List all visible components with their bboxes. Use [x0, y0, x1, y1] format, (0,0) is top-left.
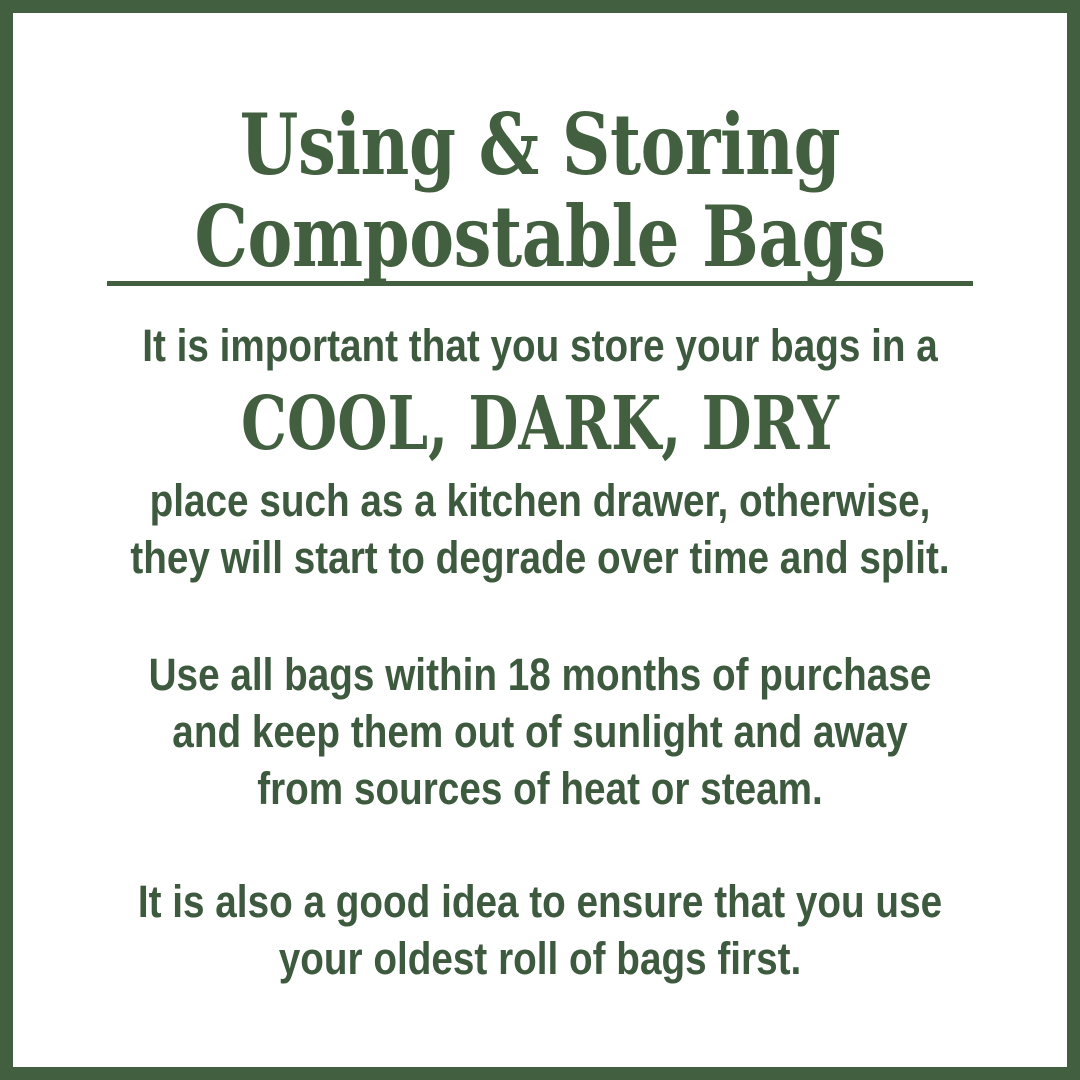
- lead-statement-line: It is important that you store your bags…: [113, 316, 968, 376]
- body-content: It is important that you store your bags…: [43, 316, 1037, 987]
- title-divider-rule: [107, 281, 973, 286]
- paragraph-storage-line-1: place such as a kitchen drawer, otherwis…: [113, 472, 968, 529]
- paragraph-shelf-life-line-3: from sources of heat or steam.: [113, 760, 968, 817]
- paragraph-shelf-life-line-1: Use all bags within 18 months of purchas…: [113, 646, 968, 703]
- paragraph-rotation-tip: It is also a good idea to ensure that yo…: [113, 873, 968, 987]
- page-title: Using & Storing Compostable Bags: [13, 99, 1067, 283]
- paragraph-shelf-life-line-2: and keep them out of sunlight and away: [113, 703, 968, 760]
- paragraph-storage-line-2: they will start to degrade over time and…: [113, 529, 968, 586]
- title-line-1: Using & Storing: [118, 99, 961, 191]
- paragraph-rotation-tip-line-2: your oldest roll of bags first.: [113, 930, 968, 987]
- paragraph-spacer-2: [43, 817, 1037, 873]
- title-line-2: Compostable Bags: [118, 191, 961, 283]
- emphasis-callout: COOL, DARK, DRY: [152, 376, 927, 472]
- paragraph-storage: place such as a kitchen drawer, otherwis…: [113, 472, 968, 586]
- paragraph-shelf-life: Use all bags within 18 months of purchas…: [113, 646, 968, 817]
- lead-statement: It is important that you store your bags…: [113, 316, 968, 376]
- paragraph-spacer-1: [43, 586, 1037, 646]
- poster-card: Using & Storing Compostable Bags It is i…: [0, 0, 1080, 1080]
- paragraph-rotation-tip-line-1: It is also a good idea to ensure that yo…: [113, 873, 968, 930]
- poster-stage: Using & Storing Compostable Bags It is i…: [13, 13, 1067, 1067]
